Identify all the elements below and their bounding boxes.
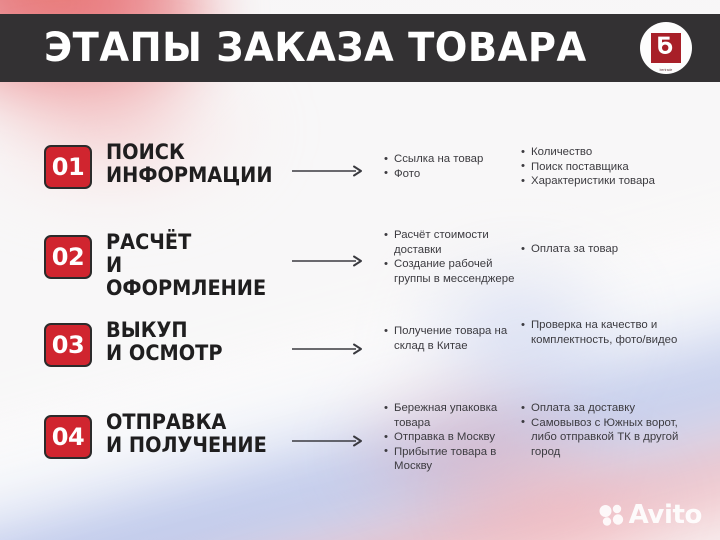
list-item: Характеристики товара	[521, 174, 701, 189]
step-row: 01 ПОИСК ИНФОРМАЦИИ Ссылка на товар Фото	[0, 118, 720, 208]
step-column-2: Ссылка на товар Фото	[384, 152, 520, 181]
step-title-line1: РАСЧЁТ	[106, 231, 267, 254]
logo-letter-b-icon	[656, 36, 674, 55]
list-item: Расчёт стоимости доставки	[384, 228, 520, 257]
step-column-3: Проверка на качество и комплектность, фо…	[521, 318, 701, 347]
step-number-badge: 01	[44, 145, 92, 189]
step-row: 03 ВЫКУП И ОСМОТР Получение товара на ск…	[0, 298, 720, 388]
flow-arrow-icon	[292, 255, 364, 267]
step-column-2: Получение товара на склад в Китае	[384, 324, 520, 353]
step-title: ПОИСК ИНФОРМАЦИИ	[106, 140, 267, 187]
flow-arrow-icon	[292, 165, 364, 177]
list-item: Самовывоз с Южных ворот, либо отправкой …	[521, 416, 701, 460]
step-column-2: Расчёт стоимости доставки Создание рабоч…	[384, 228, 520, 286]
list-item: Оплата за доставку	[521, 401, 701, 416]
step-number-badge: 02	[44, 235, 92, 279]
bullet-list: Оплата за товар	[521, 242, 701, 257]
logo-caption: bertrade	[651, 68, 681, 72]
infographic-canvas: ЭТАПЫ ЗАКАЗА ТОВАРА bertrade 01 ПОИСК ИН…	[0, 0, 720, 540]
list-item: Поиск поставщика	[521, 160, 701, 175]
step-number-badge: 04	[44, 415, 92, 459]
list-item: Получение товара на склад в Китае	[384, 324, 520, 353]
flow-arrow-icon	[292, 435, 364, 447]
bullet-list: Получение товара на склад в Китае	[384, 324, 520, 353]
step-title-line2: И ОСМОТР	[106, 342, 267, 365]
step-title-line2: И ПОЛУЧЕНИЕ	[106, 434, 267, 457]
list-item: Ссылка на товар	[384, 152, 520, 167]
list-item: Бережная упаковка товара	[384, 401, 520, 430]
step-column-3: Оплата за товар	[521, 242, 701, 257]
step-column-2: Бережная упаковка товара Отправка в Моск…	[384, 401, 520, 474]
step-title-line2: ИНФОРМАЦИИ	[106, 164, 267, 187]
bullet-list: Оплата за доставку Самовывоз с Южных вор…	[521, 401, 701, 459]
step-title: ОТПРАВКА И ПОЛУЧЕНИЕ	[106, 410, 267, 457]
bullet-list: Проверка на качество и комплектность, фо…	[521, 318, 701, 347]
brand-logo: bertrade	[640, 22, 692, 74]
step-title: ВЫКУП И ОСМОТР	[106, 318, 267, 365]
bullet-list: Ссылка на товар Фото	[384, 152, 520, 181]
bullet-list: Расчёт стоимости доставки Создание рабоч…	[384, 228, 520, 286]
page-title: ЭТАПЫ ЗАКАЗА ТОВАРА	[44, 28, 587, 68]
list-item: Оплата за товар	[521, 242, 701, 257]
step-column-3: Количество Поиск поставщика Характеристи…	[521, 145, 701, 189]
avito-watermark: Avito	[599, 502, 702, 528]
step-number-badge: 03	[44, 323, 92, 367]
step-row: 02 РАСЧЁТ И ОФОРМЛЕНИЕ Расчёт стоимости …	[0, 208, 720, 298]
step-column-3: Оплата за доставку Самовывоз с Южных вор…	[521, 401, 701, 459]
step-title-line1: ОТПРАВКА	[106, 411, 267, 434]
avito-wordmark: Avito	[629, 502, 702, 528]
step-row: 04 ОТПРАВКА И ПОЛУЧЕНИЕ Бережная упаковк…	[0, 388, 720, 478]
header-bar: ЭТАПЫ ЗАКАЗА ТОВАРА	[0, 14, 720, 82]
logo-square-icon: bertrade	[651, 33, 681, 63]
bullet-list: Бережная упаковка товара Отправка в Моск…	[384, 401, 520, 474]
step-title-line1: ВЫКУП	[106, 319, 267, 342]
list-item: Проверка на качество и комплектность, фо…	[521, 318, 701, 347]
step-title: РАСЧЁТ И ОФОРМЛЕНИЕ	[106, 230, 267, 300]
list-item: Прибытие товара в Москву	[384, 445, 520, 474]
list-item: Количество	[521, 145, 701, 160]
bullet-list: Количество Поиск поставщика Характеристи…	[521, 145, 701, 189]
list-item: Создание рабочей группы в мессенджере	[384, 257, 520, 286]
steps-list: 01 ПОИСК ИНФОРМАЦИИ Ссылка на товар Фото	[0, 118, 720, 478]
list-item: Отправка в Москву	[384, 430, 520, 445]
flow-arrow-icon	[292, 343, 364, 355]
list-item: Фото	[384, 167, 520, 182]
step-title-line1: ПОИСК	[106, 141, 267, 164]
avito-dots-icon	[599, 504, 625, 526]
step-title-line2: И ОФОРМЛЕНИЕ	[106, 254, 267, 300]
